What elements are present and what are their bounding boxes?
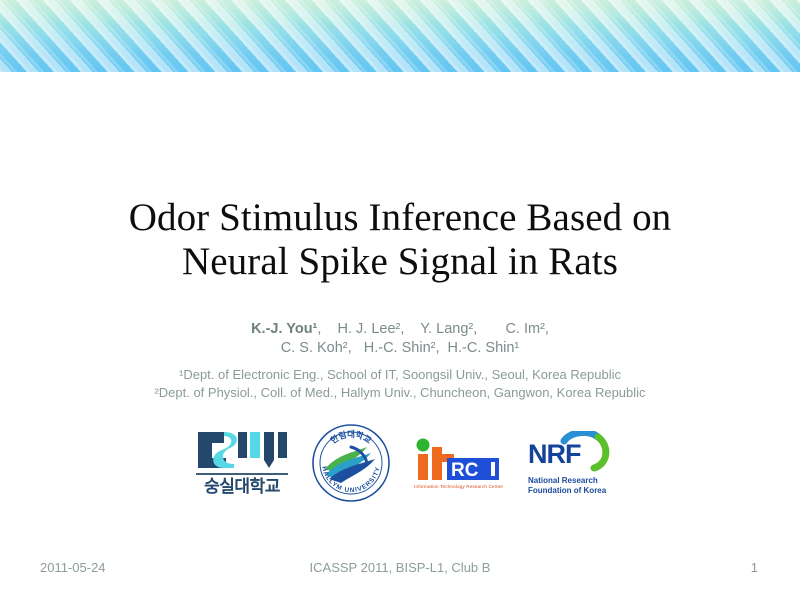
author-line-1: K.-J. You¹, H. J. Lee², Y. Lang², C. Im²… <box>60 320 740 339</box>
band-highlight <box>0 0 800 72</box>
ssu-mark-icon <box>194 430 290 470</box>
itrc-mark-icon: RC <box>411 438 507 482</box>
author-line-1-rest: , H. J. Lee², Y. Lang², C. Im², <box>317 321 549 337</box>
ssu-divider <box>196 473 288 475</box>
author-list: K.-J. You¹, H. J. Lee², Y. Lang², C. Im²… <box>60 320 740 358</box>
soongsil-university-logo: 숭실대학교 <box>190 423 294 503</box>
logo-row: 숭실대학교 한림대학교 HALLYM UNIVERSITY <box>190 421 630 505</box>
nrf-subtitle-line-2: Foundation of Korea <box>528 486 630 496</box>
slide-title: Odor Stimulus Inference Based on Neural … <box>60 196 740 284</box>
nrf-subtitle: National Research Foundation of Korea <box>524 476 630 496</box>
presenting-author: K.-J. You¹ <box>251 321 317 337</box>
svg-text:RC: RC <box>451 460 479 481</box>
footer-page-number: 1 <box>751 560 758 575</box>
title-line-2: Neural Spike Signal in Rats <box>60 240 740 284</box>
nrf-subtitle-line-1: National Research <box>528 476 630 486</box>
affiliation-list: ¹Dept. of Electronic Eng., School of IT,… <box>60 366 740 402</box>
hallym-seal-icon: 한림대학교 HALLYM UNIVERSITY <box>311 423 391 503</box>
header-stripe-band <box>0 0 800 72</box>
svg-text:NRF: NRF <box>528 439 581 469</box>
affiliation-2: ²Dept. of Physiol., Coll. of Med., Hally… <box>60 384 740 402</box>
slide-footer: 2011-05-24 ICASSP 2011, BISP-L1, Club B … <box>0 560 800 586</box>
footer-conference: ICASSP 2011, BISP-L1, Club B <box>0 560 800 575</box>
author-line-2: C. S. Koh², H.-C. Shin², H.-C. Shin¹ <box>60 339 740 358</box>
hallym-university-logo: 한림대학교 HALLYM UNIVERSITY <box>309 423 393 503</box>
presentation-title-slide: Odor Stimulus Inference Based on Neural … <box>0 0 800 598</box>
ssu-korean-name: 숭실대학교 <box>204 477 280 496</box>
affiliation-1: ¹Dept. of Electronic Eng., School of IT,… <box>60 366 740 384</box>
nrf-logo: NRF National Research Foundation of Kore… <box>524 423 630 503</box>
itrc-logo: RC Information Technology Research Cente… <box>409 423 509 503</box>
itrc-subtitle: Information Technology Research Center <box>414 484 503 489</box>
title-line-1: Odor Stimulus Inference Based on <box>60 196 740 240</box>
nrf-mark-icon: NRF <box>526 431 628 473</box>
